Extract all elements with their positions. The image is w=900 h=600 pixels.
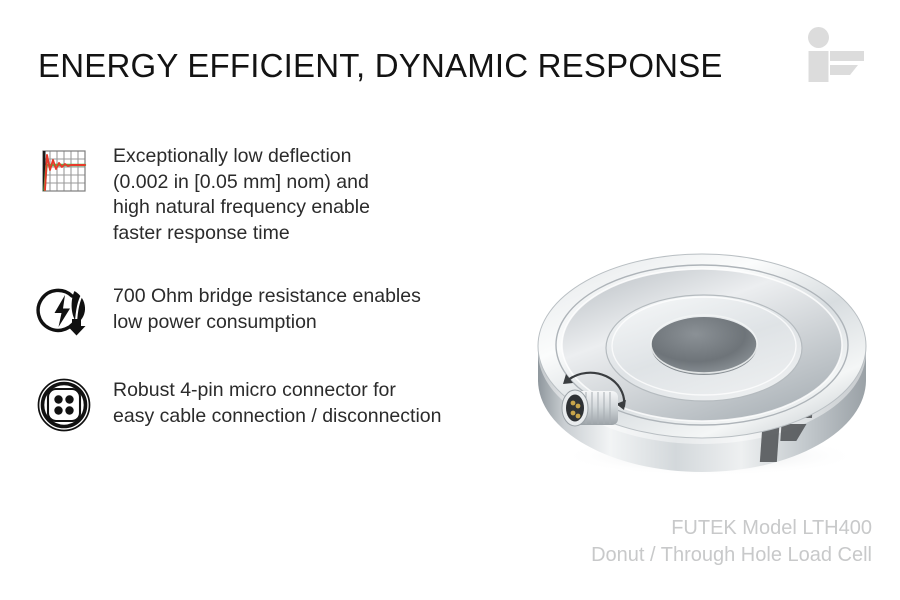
- feature-item-connector: Robust 4-pin micro connector for easy ca…: [36, 377, 441, 433]
- feature-text-deflection: Exceptionally low deflection (0.002 in […: [113, 143, 370, 246]
- feature-line: faster response time: [113, 221, 370, 247]
- feature-line: Exceptionally low deflection: [113, 144, 370, 170]
- slide-canvas: ENERGY EFFICIENT, DYNAMIC RESPONSE: [0, 0, 900, 600]
- feature-text-connector: Robust 4-pin micro connector for easy ca…: [113, 377, 441, 429]
- feature-item-deflection: Exceptionally low deflection (0.002 in […: [36, 143, 370, 246]
- page-title: ENERGY EFFICIENT, DYNAMIC RESPONSE: [38, 47, 723, 85]
- four-pin-connector-icon: [36, 377, 92, 433]
- futek-if-logo: [800, 26, 872, 82]
- feature-text-power: 700 Ohm bridge resistance enables low po…: [113, 283, 421, 335]
- feature-line: high natural frequency enable: [113, 195, 370, 221]
- micro-connector-4-pin: [562, 390, 618, 426]
- feature-line: 700 Ohm bridge resistance enables: [113, 284, 421, 310]
- product-caption: FUTEK Model LTH400 Donut / Through Hole …: [591, 515, 872, 569]
- energy-efficiency-leaf-bolt-icon: [36, 283, 92, 339]
- caption-model: FUTEK Model LTH400: [591, 515, 872, 542]
- feature-line: (0.002 in [0.05 mm] nom) and: [113, 170, 370, 196]
- feature-line: low power consumption: [113, 310, 421, 336]
- caption-type: Donut / Through Hole Load Cell: [591, 542, 872, 569]
- feature-line: Robust 4-pin micro connector for: [113, 378, 441, 404]
- step-response-graph-icon: [36, 143, 92, 199]
- feature-item-power: 700 Ohm bridge resistance enables low po…: [36, 283, 421, 339]
- feature-line: easy cable connection / disconnection: [113, 404, 441, 430]
- donut-through-hole-load-cell-photo: [528, 228, 896, 484]
